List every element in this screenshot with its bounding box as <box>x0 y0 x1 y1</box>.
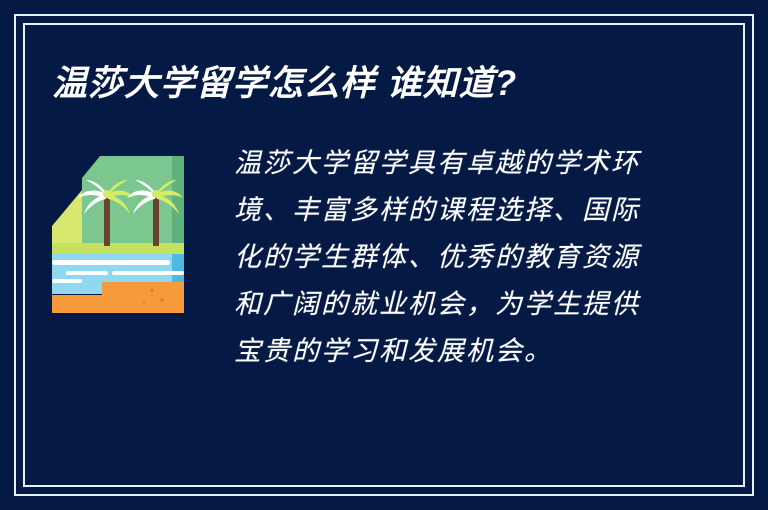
island-green-shape <box>82 156 176 251</box>
content-row: 温莎大学留学具有卓越的学术环 境、丰富多样的课程选择、国际 化的学生群体、优秀的… <box>52 140 716 375</box>
island-illustration-svg <box>52 148 192 313</box>
sand-speck-1 <box>150 288 154 292</box>
body-text-line: 宝贵的学习和发展机会。 <box>234 328 716 375</box>
palm-left-crown <box>103 190 111 198</box>
wave-line-4 <box>52 279 82 283</box>
wave-line-1 <box>52 260 170 265</box>
shore-lime-band <box>52 243 184 254</box>
body-text-line: 境、丰富多样的课程选择、国际 <box>234 187 716 234</box>
sand-speck-2 <box>160 298 164 302</box>
palm-left-trunk <box>104 194 110 246</box>
body-text-line: 温莎大学留学具有卓越的学术环 <box>234 140 716 187</box>
body-text-line: 化的学生群体、优秀的教育资源 <box>234 234 716 281</box>
tropical-island-beach-illustration <box>52 148 192 313</box>
wave-line-2 <box>66 271 108 275</box>
palm-right-crown <box>152 190 160 198</box>
poster-canvas: 温莎大学留学怎么样 谁知道? <box>0 0 768 510</box>
body-text-line: 和广阔的就业机会，为学生提供 <box>234 281 716 328</box>
page-title: 温莎大学留学怎么样 谁知道? <box>52 62 712 106</box>
wave-line-3 <box>112 271 184 275</box>
body-text-block: 温莎大学留学具有卓越的学术环 境、丰富多样的课程选择、国际 化的学生群体、优秀的… <box>234 140 716 375</box>
island-green-shade-shape <box>172 156 184 251</box>
palm-right-trunk <box>153 194 159 246</box>
sand-speck-3 <box>143 301 146 304</box>
